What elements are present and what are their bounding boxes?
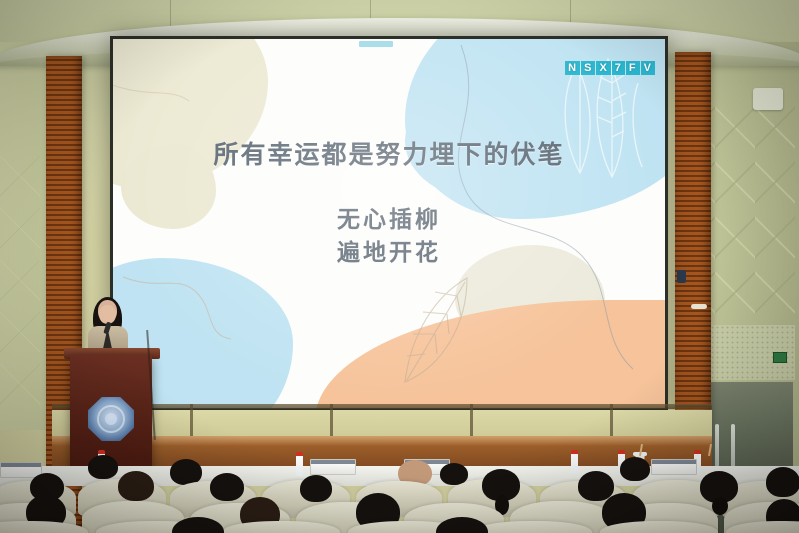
attendee-head — [620, 457, 650, 481]
attendee-head — [578, 471, 614, 501]
watermark-char-0: N — [565, 61, 580, 75]
watermark-char-5: V — [641, 61, 655, 75]
watermark-char-1: S — [581, 61, 595, 75]
slide-text-block: 所有幸运都是努力埋下的伏笔 无心插柳 遍地开花 — [113, 135, 665, 270]
slide-subline-group: 无心插柳 遍地开花 — [113, 203, 665, 270]
wall-speaker-icon — [753, 88, 783, 110]
attendee-head — [766, 467, 799, 497]
attendee-head — [300, 475, 332, 502]
attendee-head — [210, 473, 244, 501]
audience-area — [0, 455, 799, 533]
decor-wave-peach — [315, 300, 665, 408]
exit-sign-icon — [773, 352, 787, 363]
slide-headline: 所有幸运都是努力埋下的伏笔 — [113, 135, 665, 171]
slide-subline-2: 遍地开花 — [113, 236, 665, 269]
slide-surface: 所有幸运都是努力埋下的伏笔 无心插柳 遍地开花 N S X 7 F V — [113, 39, 665, 408]
slide-subline-1: 无心插柳 — [113, 203, 665, 236]
projection-screen: 所有幸运都是努力埋下的伏笔 无心插柳 遍地开花 N S X 7 F V — [110, 36, 668, 411]
left-acoustic-panel-icon — [0, 150, 40, 410]
watermark-char-3: 7 — [612, 61, 625, 75]
attendee-head — [88, 455, 118, 479]
slide-top-tab-mark — [359, 41, 393, 47]
podium-crest-icon — [88, 397, 134, 441]
watermark-char-4: F — [626, 61, 640, 75]
watermark-char-2: X — [596, 61, 610, 75]
attendee-head — [118, 471, 154, 501]
watermark-badge: N S X 7 F V — [565, 61, 655, 75]
auditorium-photo: 所有幸运都是努力埋下的伏笔 无心插柳 遍地开花 N S X 7 F V — [0, 0, 799, 533]
